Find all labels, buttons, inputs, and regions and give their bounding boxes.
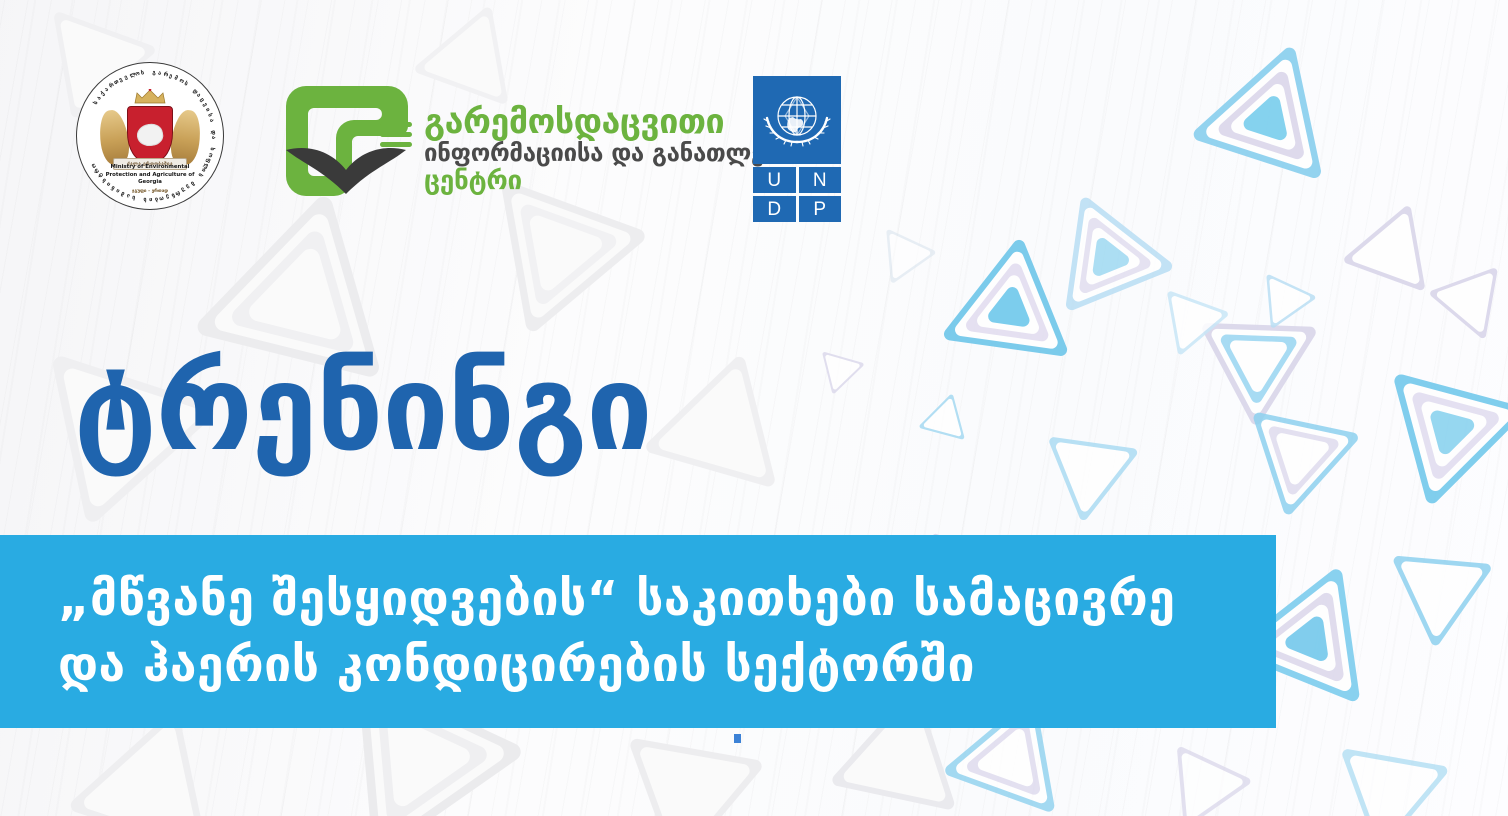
eiec-mark-svg bbox=[284, 78, 416, 198]
triangle-svg bbox=[931, 231, 1089, 389]
triangle-svg bbox=[1380, 530, 1499, 649]
decorative-blue-dot bbox=[734, 734, 741, 743]
ring-text-char: ბ bbox=[154, 196, 158, 202]
subtitle-line-2: და ჰაერის კონდიცირების სექტორში bbox=[58, 632, 1252, 698]
triangle-svg bbox=[1358, 338, 1508, 522]
ring-text-char: ა bbox=[158, 71, 162, 77]
ring-text-char: გ bbox=[152, 70, 156, 76]
background-triangle bbox=[810, 340, 869, 399]
un-globe-svg bbox=[753, 76, 841, 164]
triangle-svg bbox=[1034, 414, 1147, 527]
poster-canvas: საქართველოს გარემოს დაცვისა და სოფლის მე… bbox=[0, 0, 1508, 816]
background-triangle bbox=[627, 337, 813, 523]
eiec-logo: გარემოსდაცვითი ინფორმაციისა და განათლები… bbox=[284, 78, 804, 198]
background-triangle bbox=[1229, 384, 1371, 526]
ring-text-char: ი bbox=[204, 107, 211, 113]
un-globe-emblem-icon bbox=[753, 76, 841, 164]
undp-letter-u: U bbox=[753, 167, 796, 193]
ring-text-char bbox=[138, 195, 141, 201]
background-triangle bbox=[1380, 530, 1499, 649]
eiec-line-2: ინფორმაციისა და განათლების bbox=[424, 140, 804, 167]
page-title: ტრენინგი bbox=[74, 348, 652, 468]
ministry-caption-en: Ministry of Environmental Protection and… bbox=[106, 164, 195, 185]
ring-text-char: ი bbox=[149, 196, 153, 202]
undp-logo: U N D P bbox=[753, 76, 841, 222]
background-triangle bbox=[1320, 720, 1459, 816]
undp-letters: U N D P bbox=[753, 167, 841, 222]
eiec-wordmark: გარემოსდაცვითი ინფორმაციისა და განათლები… bbox=[424, 104, 804, 196]
ring-text-char: ა bbox=[210, 136, 216, 139]
background-triangle bbox=[1034, 414, 1147, 527]
ring-text-char: ს bbox=[208, 147, 215, 151]
ministry-caption: Ministry of Environmental Protection and… bbox=[98, 164, 202, 195]
background-triangle bbox=[1358, 338, 1508, 522]
ring-text-char: ს bbox=[143, 196, 147, 202]
shield-icon bbox=[127, 106, 173, 162]
undp-letter-n: N bbox=[799, 167, 842, 193]
ministry-caption-ka: ჯგუფი - ერთად bbox=[98, 188, 202, 195]
triangle-svg bbox=[913, 388, 977, 452]
triangle-svg bbox=[1229, 384, 1371, 526]
ring-text-char: ო bbox=[158, 195, 164, 202]
background-triangle bbox=[1145, 725, 1265, 816]
background-triangle bbox=[913, 388, 977, 452]
ring-text-char bbox=[210, 141, 216, 144]
eiec-line-3: ცენტრი bbox=[424, 167, 804, 196]
saint-george-rider-icon bbox=[135, 122, 164, 148]
ring-text-char: დ bbox=[210, 130, 216, 135]
ring-text-char: ა bbox=[208, 118, 215, 123]
undp-letter-d: D bbox=[753, 196, 796, 222]
ring-text-char: ს bbox=[141, 70, 145, 76]
triangle-svg bbox=[1145, 725, 1265, 816]
background-triangle bbox=[931, 231, 1089, 389]
ring-text-char: ს bbox=[206, 113, 213, 118]
undp-letter-p: P bbox=[799, 196, 842, 222]
eiec-book-mark-icon bbox=[284, 78, 416, 198]
triangle-svg bbox=[810, 340, 869, 399]
ring-text-char bbox=[209, 124, 215, 127]
ring-text-char: ე bbox=[168, 73, 173, 80]
ring-text-char bbox=[146, 70, 148, 76]
logo-row: საქართველოს გარემოს დაცვისა და სოფლის მე… bbox=[0, 0, 1508, 240]
eiec-line-1: გარემოსდაცვითი bbox=[424, 104, 804, 140]
subtitle-line-1: „მწვანე შესყიდვების“ საკითხები სამაცივრე bbox=[58, 566, 1252, 632]
triangle-svg bbox=[1320, 720, 1459, 816]
ring-text-char: ე bbox=[123, 74, 128, 81]
subtitle-banner: „მწვანე შესყიდვების“ საკითხები სამაცივრე… bbox=[0, 535, 1276, 728]
ministry-emblem-logo: საქართველოს გარემოს დაცვისა და სოფლის მე… bbox=[76, 62, 224, 210]
triangle-svg bbox=[627, 337, 813, 523]
crown-icon bbox=[133, 89, 167, 105]
